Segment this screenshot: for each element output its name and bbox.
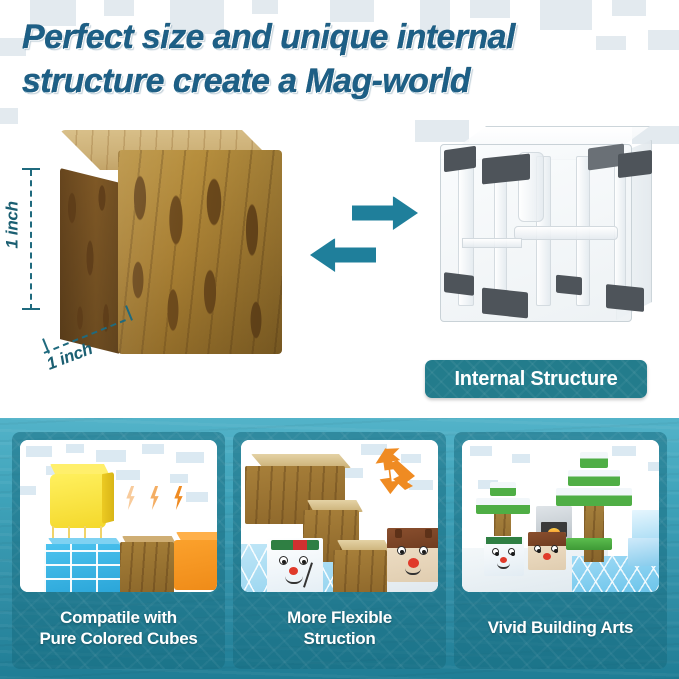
eye-right xyxy=(508,548,515,555)
corner-magnet xyxy=(556,275,582,296)
feature-panel-flexible-construction[interactable]: More Flexible Struction xyxy=(233,432,446,669)
feature-caption-compatible-cubes: Compatile with Pure Colored Cubes xyxy=(12,592,225,669)
wood-cube-small xyxy=(120,536,178,592)
caption-line-1: Compatile with xyxy=(39,608,197,628)
corner-magnet xyxy=(606,284,644,312)
reindeer-character-cube xyxy=(387,528,438,582)
infographic-page: Perfect size and unique internal structu… xyxy=(0,0,679,679)
caption-line-1: More Flexible xyxy=(287,608,392,628)
nose xyxy=(408,558,419,568)
headline-line-2: structure create a Mag-world xyxy=(22,60,662,104)
dimension-label-height: 1 inch xyxy=(3,201,23,248)
grass-block-row xyxy=(566,538,612,550)
features-section: Compatile with Pure Colored Cubes xyxy=(0,418,679,679)
blue-brick-cube xyxy=(44,538,124,592)
feature-panel-compatible-cubes[interactable]: Compatile with Pure Colored Cubes xyxy=(12,432,225,669)
exchange-arrows xyxy=(310,196,420,286)
arrow-right-icon xyxy=(352,196,418,230)
nose xyxy=(543,553,551,560)
feature-caption-vivid-building-arts: Vivid Building Arts xyxy=(454,592,667,669)
arrow-left-icon xyxy=(310,238,376,272)
dimension-cap-top xyxy=(22,168,40,170)
caption-line-2: Struction xyxy=(287,629,392,649)
corner-magnet xyxy=(444,146,476,172)
ice-block xyxy=(628,538,659,566)
ice-block xyxy=(632,510,659,540)
headline-line-1: Perfect size and unique internal xyxy=(22,16,662,60)
eye-left xyxy=(534,545,541,552)
eye-right xyxy=(299,556,308,565)
feature-caption-flexible-construction: More Flexible Struction xyxy=(233,592,446,669)
inner-shelf xyxy=(514,226,618,240)
dimension-cap-bottom xyxy=(22,308,40,310)
snowman-character-cube xyxy=(484,536,524,576)
internal-structure-label: Internal Structure xyxy=(454,368,617,391)
feature-image-vivid-building-arts xyxy=(462,440,659,592)
wood-cube-front-face xyxy=(118,150,282,354)
orange-cube xyxy=(174,532,217,592)
mouth xyxy=(285,576,303,584)
feature-panel-vivid-building-arts[interactable]: Vivid Building Arts xyxy=(454,432,667,669)
corner-magnet xyxy=(618,150,652,178)
feature-panels: Compatile with Pure Colored Cubes xyxy=(0,418,679,679)
eye-left xyxy=(397,546,406,555)
feature-image-compatible-cubes xyxy=(20,440,217,592)
snowman-character-cube xyxy=(267,538,323,592)
eye-right xyxy=(419,546,428,555)
wood-cube-step-bottom xyxy=(333,540,395,592)
feature-image-flexible-construction xyxy=(241,440,438,592)
corner-magnet xyxy=(482,288,528,319)
eye-left xyxy=(492,548,499,555)
mouth xyxy=(405,568,421,575)
corner-magnet xyxy=(482,153,530,184)
nose xyxy=(289,567,298,575)
eye-right xyxy=(551,545,558,552)
page-title: Perfect size and unique internal structu… xyxy=(22,16,662,103)
top-section: Perfect size and unique internal structu… xyxy=(0,0,679,418)
yellow-cube xyxy=(46,464,114,530)
upward-zigzag-arrow-icon xyxy=(369,446,438,502)
mouth xyxy=(497,563,510,569)
caption-line-2: Pure Colored Cubes xyxy=(39,629,197,649)
wood-cube-shading xyxy=(118,150,282,354)
transparent-cube xyxy=(418,126,658,351)
eye-left xyxy=(279,556,288,565)
dimension-line-vertical xyxy=(30,170,32,310)
inner-shelf xyxy=(462,238,522,248)
reindeer-character-cube xyxy=(528,532,566,570)
corner-magnet xyxy=(444,272,474,296)
caption-line-1: Vivid Building Arts xyxy=(488,618,633,638)
internal-structure-badge: Internal Structure xyxy=(425,360,647,398)
